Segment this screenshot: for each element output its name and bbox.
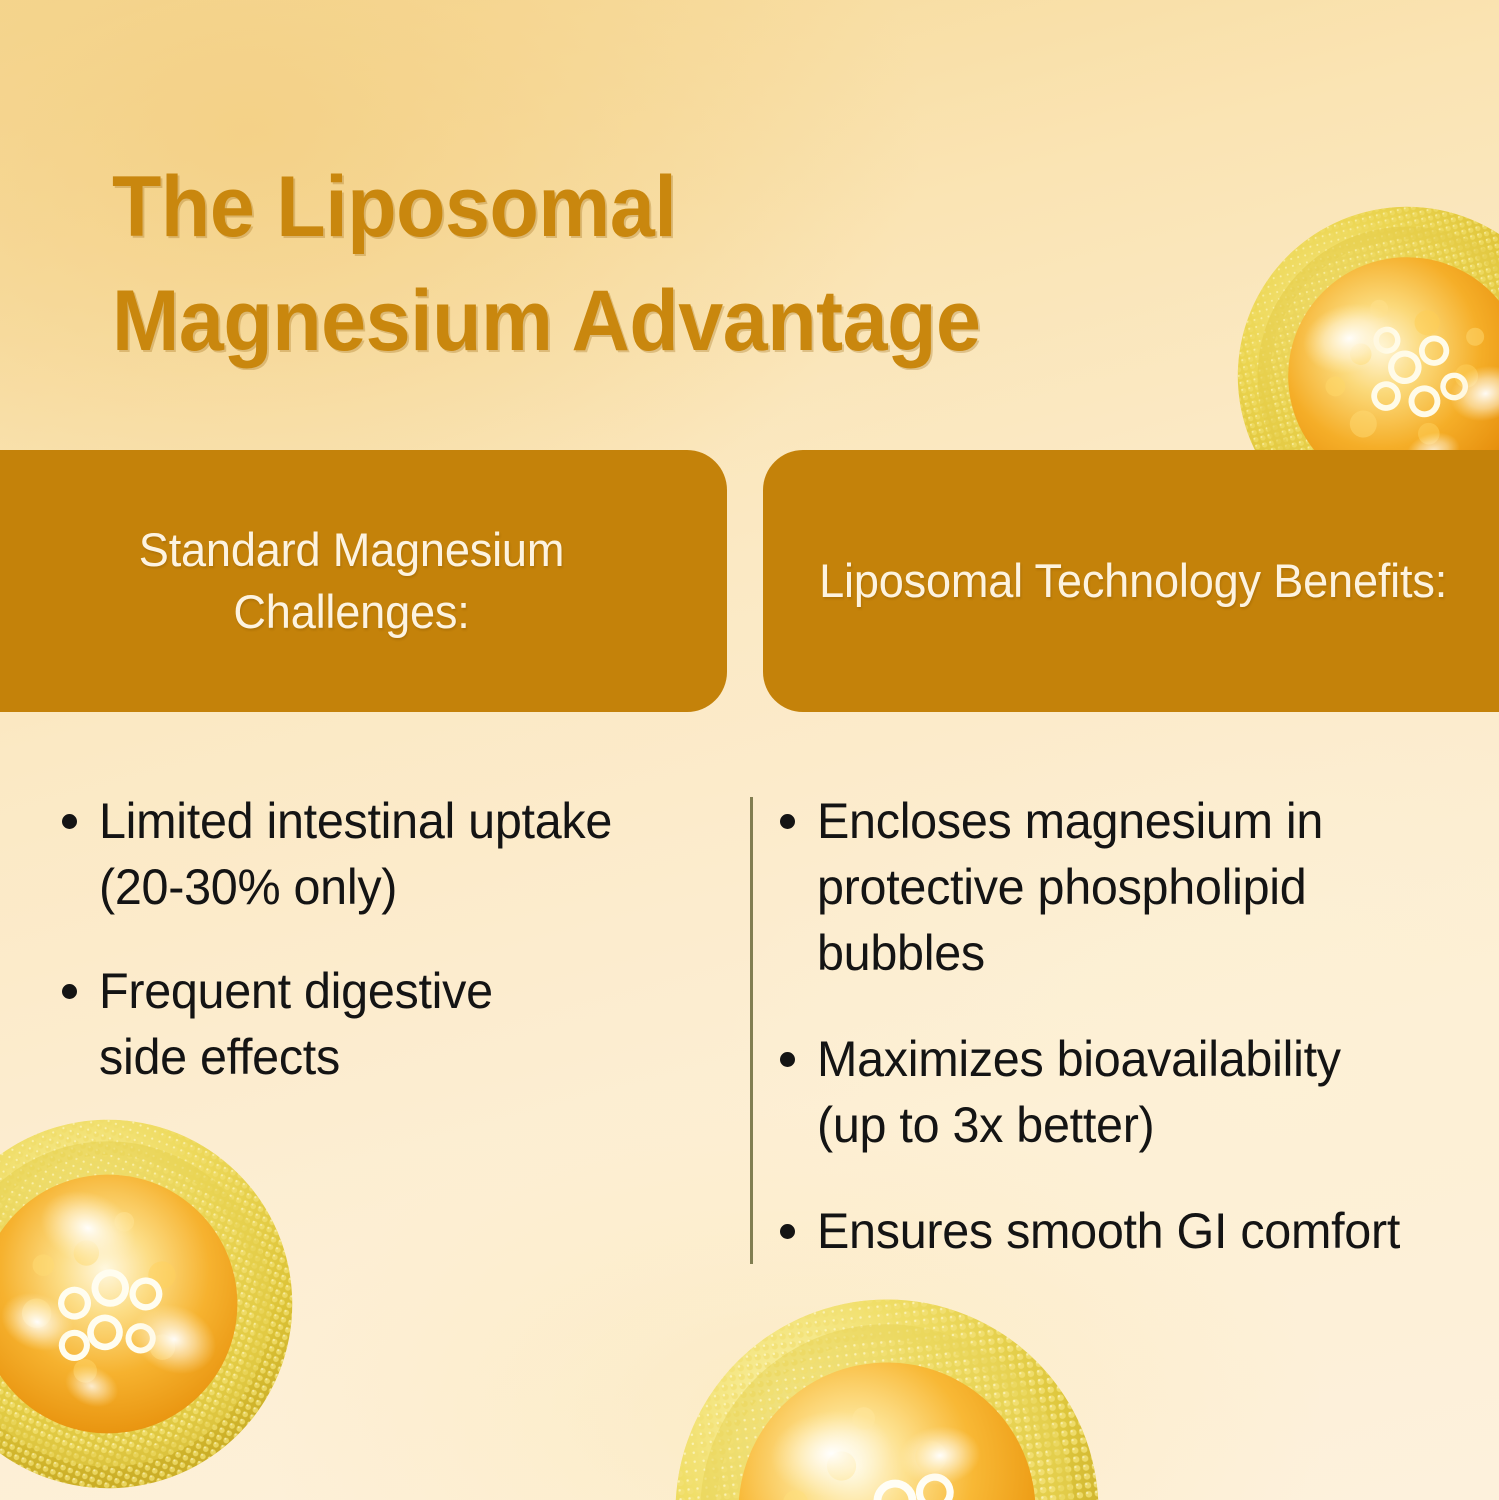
list-item-label: Ensures smooth GI comfort: [817, 1198, 1400, 1264]
list-item: Frequent digestive side effects: [62, 958, 722, 1090]
column-divider: [750, 797, 753, 1264]
list-item: Encloses magnesium in protective phospho…: [780, 788, 1480, 986]
bullet-dot-icon: [780, 814, 795, 829]
list-item-label: Frequent digestive side effects: [99, 958, 493, 1090]
bullet-dot-icon: [780, 1224, 795, 1239]
list-item: Maximizes bioavailability (up to 3x bett…: [780, 1026, 1480, 1158]
list-item-label: Encloses magnesium in protective phospho…: [817, 788, 1323, 986]
bullet-dot-icon: [780, 1052, 795, 1067]
page-title-line-1: The Liposomal: [112, 159, 676, 255]
list-item-label: Maximizes bioavailability (up to 3x bett…: [817, 1026, 1341, 1158]
liposome-illustration-bottom-left: [0, 1049, 363, 1500]
liposome-illustration-bottom-center: [640, 1264, 1135, 1500]
right-column-header-label: Liposomal Technology Benefits:: [819, 550, 1447, 612]
list-item: Ensures smooth GI comfort: [780, 1198, 1480, 1264]
bullet-dot-icon: [62, 814, 77, 829]
right-column-header: Liposomal Technology Benefits:: [763, 450, 1499, 712]
right-column-list: Encloses magnesium in protective phospho…: [780, 788, 1480, 1264]
list-item: Limited intestinal uptake (20-30% only): [62, 788, 722, 920]
list-item-label: Limited intestinal uptake (20-30% only): [99, 788, 612, 920]
page-title-line-2: Magnesium Advantage: [112, 273, 981, 369]
left-column-header: Standard Magnesium Challenges:: [0, 450, 727, 712]
left-column-header-label: Standard Magnesium Challenges:: [39, 519, 664, 643]
infographic-canvas: The Liposomal Magnesium Advantage Standa…: [0, 0, 1499, 1500]
bullet-dot-icon: [62, 984, 77, 999]
left-column-list: Limited intestinal uptake (20-30% only) …: [62, 788, 722, 1090]
page-title: The Liposomal Magnesium Advantage: [112, 150, 1221, 379]
